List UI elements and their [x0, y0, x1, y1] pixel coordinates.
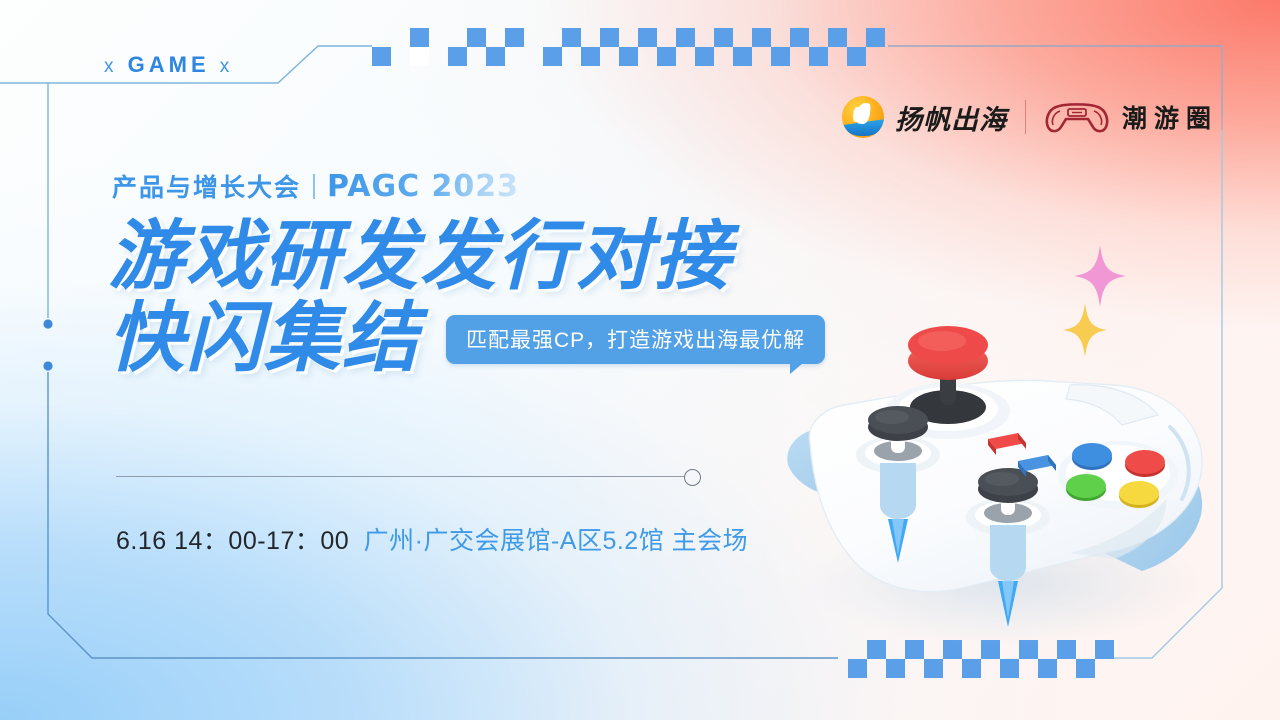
poster-canvas: x GAME x 扬帆出海 潮游圈 产品与	[0, 0, 1280, 720]
gamepad-outline-icon	[1044, 98, 1110, 136]
conference-title-row: 产品与增长大会 PAGC 2023	[112, 168, 519, 204]
headline-block: 游戏研发发行对接 快闪集结 匹配最强CP，打造游戏出海最优解	[108, 216, 825, 380]
checker-strip-top	[372, 28, 892, 66]
headline-line-2: 快闪集结	[108, 298, 420, 380]
conference-title-en: PAGC 2023	[327, 169, 519, 204]
game-label-right-mark: x	[220, 56, 234, 77]
logo-row: 扬帆出海 潮游圈	[842, 96, 1218, 138]
conference-divider	[313, 174, 315, 199]
event-datetime: 6.16 14：00-17：00	[116, 527, 349, 555]
isometric-gamepad-illustration	[770, 315, 1240, 660]
divider-rule	[116, 476, 684, 477]
game-label: x GAME x	[104, 52, 233, 78]
divider-end-dot	[684, 469, 701, 486]
sparkle-pink-icon	[1074, 245, 1126, 307]
tagline-pill: 匹配最强CP，打造游戏出海最优解	[446, 315, 825, 364]
logo-chaoyouquan[interactable]: 潮游圈	[1044, 98, 1218, 136]
game-label-left-mark: x	[104, 56, 118, 77]
event-venue: 广州·广交会展馆-A区5.2馆 主会场	[364, 527, 749, 555]
conference-title-cn: 产品与增长大会	[112, 168, 301, 204]
event-info-line: 6.16 14：00-17：00 广州·广交会展馆-A区5.2馆 主会场	[116, 521, 748, 557]
headline-line-1: 游戏研发发行对接	[108, 216, 825, 298]
logo-chaoyouquan-text: 潮游圈	[1122, 99, 1218, 135]
logo-separator	[1025, 100, 1026, 134]
logo-yangfanchuhai[interactable]: 扬帆出海	[842, 96, 1007, 138]
logo-yangfanchuhai-text: 扬帆出海	[895, 98, 1007, 137]
sail-circle-icon	[842, 96, 884, 138]
game-label-text: GAME	[128, 52, 210, 77]
